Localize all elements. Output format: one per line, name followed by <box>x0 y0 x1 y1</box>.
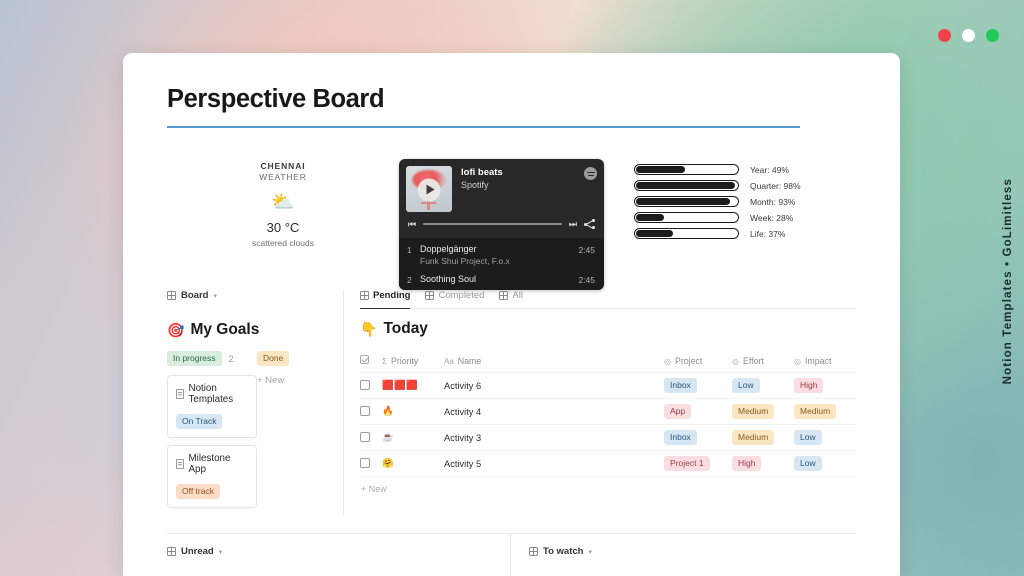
chevron-down-icon[interactable]: ▾ <box>213 292 217 300</box>
mid-section: Board ▾ 🎯 My Goals In progress 2 <box>167 290 856 515</box>
share-icon[interactable] <box>584 219 595 229</box>
row-priority: 🟥🟥🟥 <box>382 373 444 399</box>
watch-view-label: To watch <box>543 546 583 557</box>
goal-card[interactable]: Notion Templates On Track <box>167 375 257 438</box>
page-icon <box>176 459 184 469</box>
status-badge: Off track <box>176 484 220 499</box>
weather-subtitle: WEATHER <box>167 172 399 182</box>
row-checkbox-cell[interactable] <box>360 399 382 425</box>
project-tag: Project 1 <box>664 456 710 471</box>
col-label: Priority <box>391 356 418 366</box>
project-tag: Inbox <box>664 430 697 445</box>
watch-view-selector[interactable]: To watch ▾ <box>529 546 856 566</box>
impact-tag: High <box>794 378 823 393</box>
chevron-down-icon[interactable]: ▾ <box>219 548 223 556</box>
today-table: ΣPriority AaName ◎Project ◎Effort ◎Impac… <box>360 350 856 477</box>
goals-title-text: My Goals <box>190 321 259 339</box>
effort-tag: High <box>732 456 761 471</box>
select-icon: ◎ <box>794 357 801 366</box>
impact-tag: Low <box>794 456 822 471</box>
impact-tag: Medium <box>794 404 836 419</box>
col-impact[interactable]: ◎Impact <box>794 350 856 373</box>
progress-label: Year: 49% <box>750 165 789 175</box>
row-impact: Low <box>794 451 856 477</box>
row-project: Inbox <box>664 425 732 451</box>
row-priority: 🔥 <box>382 399 444 425</box>
project-tag: App <box>664 404 691 419</box>
sigma-icon: Σ <box>382 357 387 366</box>
album-art <box>406 166 452 212</box>
goal-card-title: Milestone App <box>189 453 249 475</box>
target-icon: 🎯 <box>167 322 184 339</box>
row-priority: ☕ <box>382 425 444 451</box>
col-label: Project <box>675 356 702 366</box>
tab-label: All <box>512 290 523 301</box>
weather-description: scattered clouds <box>167 238 399 248</box>
track-duration: 2:45 <box>578 244 595 255</box>
row-checkbox[interactable] <box>360 432 370 442</box>
progress-row: Life: 37% <box>634 228 801 239</box>
read-view-label: Unread <box>181 546 214 557</box>
close-dot[interactable] <box>938 29 951 42</box>
impact-tag: Low <box>794 430 822 445</box>
title-divider <box>167 126 800 128</box>
row-checkbox-cell[interactable] <box>360 451 382 477</box>
tab-all[interactable]: All <box>499 290 523 308</box>
row-impact: Medium <box>794 399 856 425</box>
track-name: Doppelgänger <box>420 244 578 254</box>
column-count: 2 <box>229 354 234 364</box>
kanban-column-done: Done + New <box>257 351 329 515</box>
add-row-button[interactable]: + New <box>360 477 856 494</box>
weather-city: CHENNAI <box>167 161 399 171</box>
table-view-icon <box>499 291 508 300</box>
goal-card[interactable]: Milestone App Off track <box>167 445 257 508</box>
table-row[interactable]: 🤗 Activity 5 Project 1 High Low <box>360 451 856 477</box>
track-list: 1 Doppelgänger Funk Shui Project, F.o.x … <box>399 238 604 290</box>
kanban-column-in-progress: In progress 2 Notion Templates On Track <box>167 351 257 515</box>
tab-completed[interactable]: Completed <box>425 290 484 308</box>
col-label: Impact <box>805 356 831 366</box>
effort-tag: Medium <box>732 404 774 419</box>
row-name: Activity 4 <box>444 399 664 425</box>
today-title-text: Today <box>383 320 428 338</box>
progress-row: Month: 93% <box>634 196 801 207</box>
progress-track <box>634 196 739 207</box>
row-checkbox-cell[interactable] <box>360 425 382 451</box>
row-project: App <box>664 399 732 425</box>
table-view-icon <box>167 547 176 556</box>
tab-pending[interactable]: Pending <box>360 290 410 309</box>
col-effort[interactable]: ◎Effort <box>732 350 794 373</box>
watch-list-panel: To watch ▾ 🍿 Watch List Watched? AaTitle… <box>511 534 856 576</box>
main-card: Perspective Board CHENNAI WEATHER ⛅ 30 °… <box>123 53 900 576</box>
board-view-icon <box>167 291 176 300</box>
progress-label: Life: 37% <box>750 229 785 239</box>
table-view-icon <box>529 547 538 556</box>
row-project: Inbox <box>664 373 732 399</box>
table-row[interactable]: ☕ Activity 3 Inbox Medium Low <box>360 425 856 451</box>
read-list-panel: Unread ▾ 📕 Read List Read? AaTitle 🔗Link… <box>167 534 511 576</box>
row-checkbox-cell[interactable] <box>360 373 382 399</box>
progress-track <box>634 228 739 239</box>
row-checkbox[interactable] <box>360 380 370 390</box>
list-item[interactable]: 2 Soothing Soul 2:45 <box>399 270 604 289</box>
col-name[interactable]: AaName <box>444 350 664 373</box>
col-label: Name <box>458 356 481 366</box>
progress-label: Month: 93% <box>750 197 795 207</box>
table-header-row: ΣPriority AaName ◎Project ◎Effort ◎Impac… <box>360 350 856 373</box>
minimize-dot[interactable] <box>962 29 975 42</box>
track-number: 1 <box>407 244 420 255</box>
progress-widget: Year: 49% Quarter: 98% Month: 93% Week: … <box>634 159 801 244</box>
column-tag: In progress <box>167 351 222 366</box>
text-icon: Aa <box>444 357 454 366</box>
point-down-icon: 👇 <box>360 321 377 338</box>
spotify-logo-icon <box>584 167 597 180</box>
seek-bar[interactable] <box>423 223 562 225</box>
goal-card-title: Notion Templates <box>189 383 249 405</box>
track-duration: 2:45 <box>578 274 595 285</box>
spotify-title: lofi beats <box>461 167 575 178</box>
row-checkbox[interactable] <box>360 406 370 416</box>
select-icon: ◎ <box>732 357 739 366</box>
checkbox-header-icon <box>360 355 369 364</box>
next-icon[interactable]: ⏭ <box>569 220 577 229</box>
goals-view-selector[interactable]: Board ▾ <box>167 290 329 310</box>
effort-tag: Medium <box>732 430 774 445</box>
col-priority[interactable]: ΣPriority <box>382 350 444 373</box>
track-name: Soothing Soul <box>420 274 578 284</box>
row-effort: Low <box>732 373 794 399</box>
row-priority: 🤗 <box>382 451 444 477</box>
table-row[interactable]: 🔥 Activity 4 App Medium Medium <box>360 399 856 425</box>
page-title: Perspective Board <box>167 85 856 114</box>
spotify-artist: Spotify <box>461 180 575 190</box>
bottom-section: Unread ▾ 📕 Read List Read? AaTitle 🔗Link… <box>167 533 856 576</box>
table-view-icon <box>360 291 369 300</box>
effort-tag: Low <box>732 378 760 393</box>
row-effort: Medium <box>732 399 794 425</box>
add-goal-button[interactable]: + New <box>257 375 329 386</box>
row-checkbox[interactable] <box>360 458 370 468</box>
maximize-dot[interactable] <box>986 29 999 42</box>
project-tag: Inbox <box>664 378 697 393</box>
progress-row: Year: 49% <box>634 164 801 175</box>
weather-temperature: 30 °C <box>167 220 399 235</box>
goals-kanban: In progress 2 Notion Templates On Track <box>167 351 329 515</box>
track-artists: Funk Shui Project, F.o.x <box>420 256 578 266</box>
progress-row: Week: 28% <box>634 212 801 223</box>
today-tabs: Pending Completed All <box>360 290 856 309</box>
progress-track <box>634 180 739 191</box>
goals-section-title: 🎯 My Goals <box>167 321 329 339</box>
row-name: Activity 5 <box>444 451 664 477</box>
chevron-down-icon[interactable]: ▾ <box>588 548 592 556</box>
select-icon: ◎ <box>664 357 671 366</box>
list-item[interactable]: 1 Doppelgänger Funk Shui Project, F.o.x … <box>399 240 604 270</box>
col-check[interactable] <box>360 350 382 373</box>
progress-track <box>634 164 739 175</box>
progress-label: Week: 28% <box>750 213 793 223</box>
window-controls[interactable] <box>938 29 999 42</box>
col-label: Effort <box>743 356 764 366</box>
progress-label: Quarter: 98% <box>750 181 801 191</box>
cloud-sun-icon: ⛅ <box>167 193 399 212</box>
page-icon <box>176 389 184 399</box>
tab-label: Completed <box>438 290 484 301</box>
table-row[interactable]: 🟥🟥🟥 Activity 6 Inbox Low High <box>360 373 856 399</box>
play-icon[interactable] <box>418 178 441 201</box>
spotify-player[interactable]: lofi beats Spotify ⏮ ⏭ 1 <box>399 159 604 290</box>
widgets-row: CHENNAI WEATHER ⛅ 30 °C scattered clouds <box>167 159 856 264</box>
progress-row: Quarter: 98% <box>634 180 801 191</box>
today-section-title: 👇 Today <box>360 320 856 338</box>
previous-icon[interactable]: ⏮ <box>408 220 416 229</box>
track-number: 2 <box>407 274 420 285</box>
tab-label: Pending <box>373 290 410 301</box>
goals-panel: Board ▾ 🎯 My Goals In progress 2 <box>167 290 344 515</box>
row-effort: High <box>732 451 794 477</box>
read-view-selector[interactable]: Unread ▾ <box>167 546 494 566</box>
progress-track <box>634 212 739 223</box>
status-badge: On Track <box>176 414 222 429</box>
goals-view-label: Board <box>181 290 208 301</box>
row-name: Activity 6 <box>444 373 664 399</box>
row-name: Activity 3 <box>444 425 664 451</box>
row-project: Project 1 <box>664 451 732 477</box>
row-impact: High <box>794 373 856 399</box>
today-panel: Pending Completed All 👇 Today <box>344 290 856 515</box>
watermark-label: Notion Templates • GoLimitless <box>1002 178 1014 384</box>
col-project[interactable]: ◎Project <box>664 350 732 373</box>
column-tag: Done <box>257 351 289 366</box>
table-view-icon <box>425 291 434 300</box>
weather-widget: CHENNAI WEATHER ⛅ 30 °C scattered clouds <box>167 159 399 248</box>
row-effort: Medium <box>732 425 794 451</box>
row-impact: Low <box>794 425 856 451</box>
